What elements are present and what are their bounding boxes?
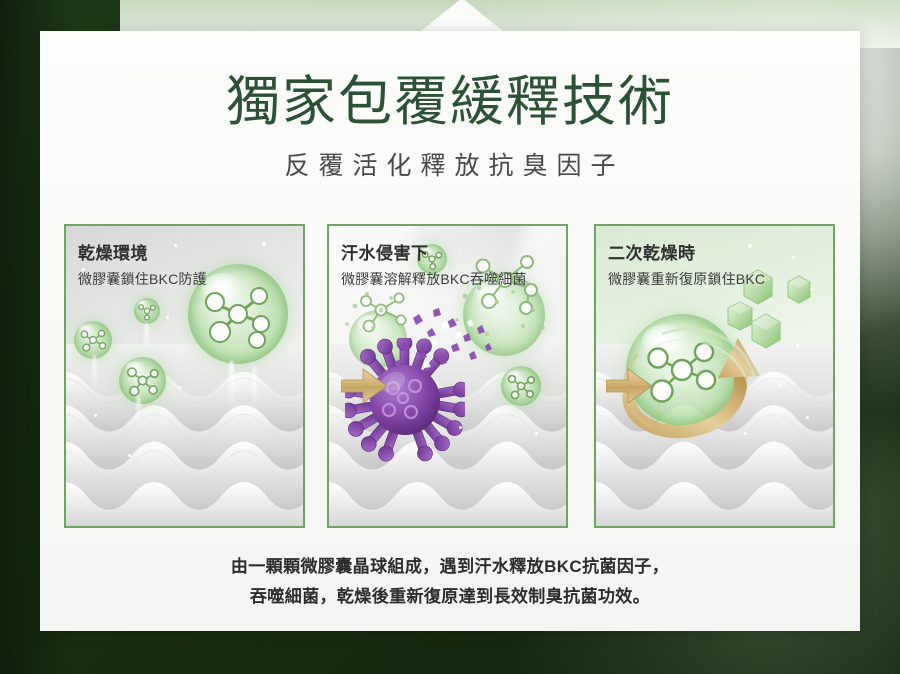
sparkle [178,386,181,389]
caption-line-1: 由一顆顆微膠囊晶球組成，遇到汗水釋放BKC抗菌因子， [40,552,860,582]
sparkle [94,414,97,417]
panel-3-subtitle: 微膠囊重新復原鎖住BKC [608,269,833,289]
caption-line-2: 吞噬細菌，乾燥後重新復原達到長效制臭抗菌功效。 [40,582,860,612]
heading-block: 獨家包覆緩釋技術 反覆活化釋放抗臭因子 [40,71,860,182]
microcapsule-small-3 [134,298,160,324]
panel-3-header: 二次乾燥時 微膠囊重新復原鎖住BKC [596,226,833,289]
sparkle [796,344,799,347]
flow-arrow-1 [341,366,389,406]
panel-2-title: 汗水侵害下 [341,239,566,264]
caption-block: 由一顆顆微膠囊晶球組成，遇到汗水釋放BKC抗菌因子， 吞噬細菌，乾燥後重新復原達… [40,552,860,612]
panel-1-subtitle: 微膠囊鎖住BKC防護 [78,269,303,289]
mist-trail [136,394,141,430]
sparkle [535,432,538,435]
sparkle [770,298,773,301]
sparkle [778,384,781,387]
sparkle [744,432,747,435]
mist-trail [144,322,149,356]
panel-1-title: 乾燥環境 [78,239,303,264]
sparkle [166,316,169,319]
flow-arrow-2 [606,366,654,406]
content-card: 獨家包覆緩釋技術 反覆活化釋放抗臭因子 [40,31,860,631]
panel-3-title: 二次乾燥時 [608,239,833,264]
panel-2-subtitle: 微膠囊溶解釋放BKC吞噬細菌 [341,269,566,289]
mist-trail [92,354,97,394]
process-panels: 乾燥環境 微膠囊鎖住BKC防護 [64,224,860,530]
panel-1-header: 乾燥環境 微膠囊鎖住BKC防護 [66,226,303,289]
mist-trail [228,360,235,412]
sparkle [128,454,131,457]
microcapsule-small-2 [119,357,166,404]
sparkle [459,426,462,429]
panel-dry-environment[interactable]: 乾燥環境 微膠囊鎖住BKC防護 [64,224,305,528]
page-title: 獨家包覆緩釋技術 [40,71,860,134]
page-subtitle: 反覆活化釋放抗臭因子 [40,146,860,182]
microcapsule-small-1 [74,321,112,359]
panel-2-header: 汗水侵害下 微膠囊溶解釋放BKC吞噬細菌 [329,226,566,289]
mist-trail [252,366,257,410]
sparkle [806,416,809,419]
